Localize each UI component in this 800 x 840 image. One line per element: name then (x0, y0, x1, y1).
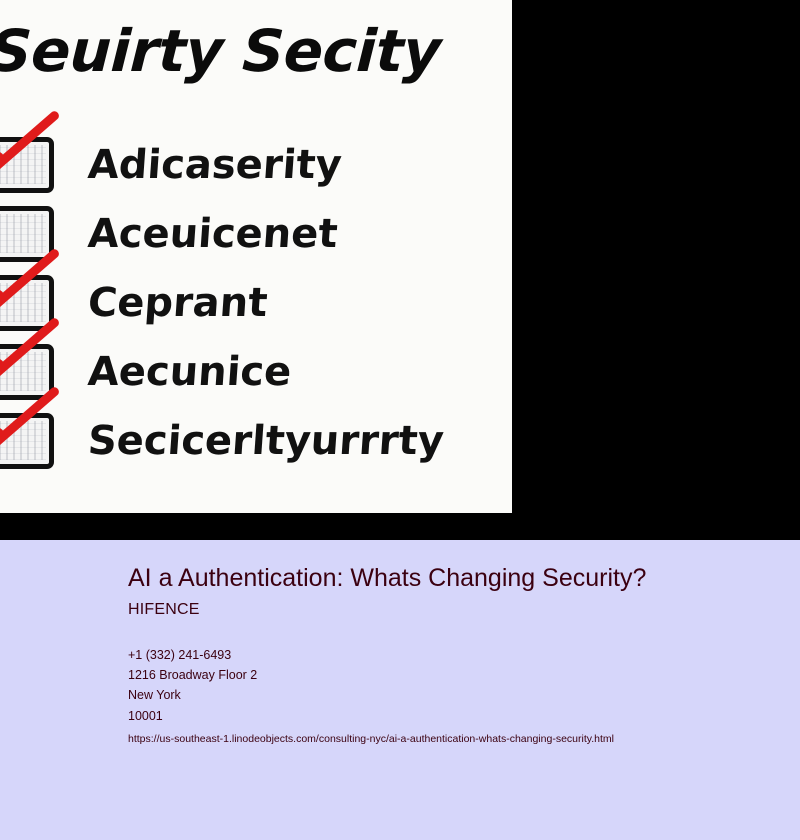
checklist-item: Aceuicenet (0, 199, 512, 268)
contact-street: 1216 Broadway Floor 2 (128, 665, 768, 685)
hero-heading-text: Seuirty Secity (0, 22, 512, 80)
contact-phone: +1 (332) 241-6493 (128, 645, 768, 665)
checklist-item-label: Aceuicenet (87, 214, 339, 254)
source-url[interactable]: https://us-southeast-1.linodeobjects.com… (128, 733, 768, 747)
page-title: AI a Authentication: Whats Changing Secu… (128, 564, 673, 594)
checklist-item-label: Ceprant (87, 283, 269, 323)
checklist-item-label: Secicerltyurrrty (87, 421, 445, 461)
checkbox-icon (0, 137, 54, 193)
checklist-item-label: Adicaserity (87, 145, 343, 185)
checkbox-icon (0, 344, 54, 400)
checklist-item: Secicerltyurrrty (0, 406, 512, 475)
checklist-item: Ceprant (0, 268, 512, 337)
contact-postal-code: 10001 (128, 706, 768, 726)
contact-block: +1 (332) 241-6493 1216 Broadway Floor 2 … (128, 645, 768, 727)
info-panel: AI a Authentication: Whats Changing Secu… (0, 540, 800, 840)
hero-checklist: Adicaserity Aceuicenet Ceprant Aecunice … (0, 130, 512, 475)
hero-illustration: Seuirty Secity Adicaserity Aceuicenet Ce… (0, 0, 512, 513)
contact-city: New York (128, 685, 768, 705)
checkbox-icon (0, 413, 54, 469)
info-panel-content: AI a Authentication: Whats Changing Secu… (128, 564, 768, 747)
checklist-item-label: Aecunice (87, 352, 293, 392)
checklist-item: Aecunice (0, 337, 512, 406)
checkbox-icon (0, 275, 54, 331)
brand-name: HIFENCE (128, 601, 768, 619)
checklist-item: Adicaserity (0, 130, 512, 199)
checkmark-icon (0, 109, 61, 179)
checkbox-icon (0, 206, 54, 262)
